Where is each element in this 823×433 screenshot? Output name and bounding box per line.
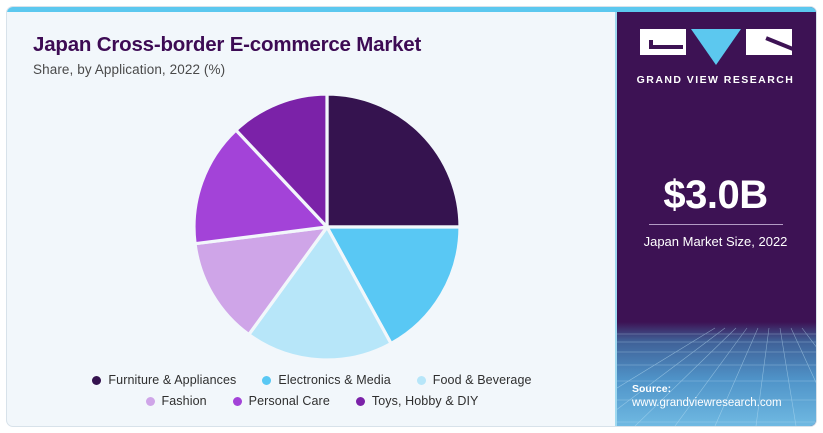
infographic-card: Japan Cross-border E-commerce Market Sha… bbox=[6, 6, 817, 427]
logo-marks bbox=[640, 29, 792, 65]
perspective-grid-graphic: Source: www.grandviewresearch.com bbox=[615, 322, 816, 426]
legend-item[interactable]: Electronics & Media bbox=[262, 373, 390, 387]
legend-swatch-icon bbox=[146, 397, 155, 406]
legend-swatch-icon bbox=[92, 376, 101, 385]
market-size-divider bbox=[649, 224, 783, 225]
market-size-caption: Japan Market Size, 2022 bbox=[644, 233, 788, 251]
legend-row-primary: Furniture & AppliancesElectronics & Medi… bbox=[92, 373, 531, 387]
legend-item[interactable]: Personal Care bbox=[233, 394, 330, 408]
pie-slice[interactable] bbox=[327, 94, 460, 227]
pie-chart-svg bbox=[192, 92, 462, 362]
market-size-block: $3.0B Japan Market Size, 2022 bbox=[615, 175, 816, 251]
title-block: Japan Cross-border E-commerce Market Sha… bbox=[33, 33, 593, 77]
pane-divider bbox=[615, 7, 617, 426]
legend-swatch-icon bbox=[356, 397, 365, 406]
logo-r-icon bbox=[746, 29, 792, 55]
legend-swatch-icon bbox=[233, 397, 242, 406]
logo-triangle-icon bbox=[691, 29, 741, 65]
page-title: Japan Cross-border E-commerce Market bbox=[33, 33, 593, 57]
logo-wordmark: GRAND VIEW RESEARCH bbox=[637, 74, 795, 86]
source-label: Source: bbox=[632, 382, 782, 396]
brand-logo: GRAND VIEW RESEARCH bbox=[615, 29, 816, 86]
legend-row-secondary: FashionPersonal CareToys, Hobby & DIY bbox=[146, 394, 479, 408]
infographic-root: Japan Cross-border E-commerce Market Sha… bbox=[0, 0, 823, 433]
chart-legend: Furniture & AppliancesElectronics & Medi… bbox=[7, 373, 617, 408]
legend-item[interactable]: Fashion bbox=[146, 394, 207, 408]
pie-chart bbox=[192, 92, 462, 362]
legend-item-label: Personal Care bbox=[249, 394, 330, 408]
legend-item-label: Furniture & Appliances bbox=[108, 373, 236, 387]
legend-item[interactable]: Furniture & Appliances bbox=[92, 373, 236, 387]
legend-item-label: Toys, Hobby & DIY bbox=[372, 394, 479, 408]
legend-item[interactable]: Food & Beverage bbox=[417, 373, 532, 387]
source-block: Source: www.grandviewresearch.com bbox=[632, 382, 782, 412]
chart-pane: Japan Cross-border E-commerce Market Sha… bbox=[7, 7, 617, 426]
logo-g-icon bbox=[640, 29, 686, 55]
market-size-value: $3.0B bbox=[663, 175, 767, 215]
legend-item-label: Electronics & Media bbox=[278, 373, 390, 387]
legend-item-label: Food & Beverage bbox=[433, 373, 532, 387]
source-url[interactable]: www.grandviewresearch.com bbox=[632, 396, 782, 412]
legend-item[interactable]: Toys, Hobby & DIY bbox=[356, 394, 479, 408]
top-accent-bar bbox=[7, 7, 816, 12]
pie-slice-group bbox=[194, 94, 460, 360]
page-subtitle: Share, by Application, 2022 (%) bbox=[33, 62, 593, 77]
legend-swatch-icon bbox=[417, 376, 426, 385]
legend-item-label: Fashion bbox=[162, 394, 207, 408]
legend-swatch-icon bbox=[262, 376, 271, 385]
brand-pane: GRAND VIEW RESEARCH $3.0B Japan Market S… bbox=[615, 7, 816, 426]
